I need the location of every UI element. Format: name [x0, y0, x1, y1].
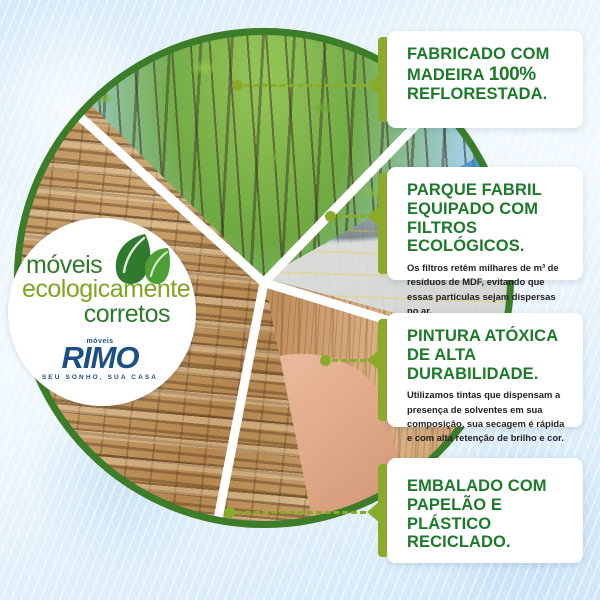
- connector-dashed-line-1: [244, 84, 366, 87]
- rimo-logo: móveis RIMO SEU SONHO, SUA CASA: [41, 338, 159, 381]
- fact-card-1[interactable]: FABRICADO COM MADEIRA 100% REFLORESTADA.: [387, 31, 583, 128]
- connector-dot-1: [232, 80, 243, 91]
- fact-card-4-heading: EMBALADO COM PAPELÃO E PLÁSTICO RECICLAD…: [407, 477, 567, 552]
- badge-line-3: corretos: [18, 302, 170, 327]
- fact-card-2[interactable]: PARQUE FABRIL EQUIPADO COM FILTROS ECOLÓ…: [387, 167, 583, 280]
- connector-2: [325, 209, 380, 223]
- fact-card-3[interactable]: PINTURA ATÓXICA DE ALTA DURABILIDADE. Ut…: [387, 313, 583, 427]
- fact-card-2-body: Os filtros retêm milhares de m³ de resíd…: [407, 261, 567, 318]
- fact-card-3-heading: PINTURA ATÓXICA DE ALTA DURABILIDADE.: [407, 327, 567, 383]
- two-leaves-icon: [104, 232, 170, 286]
- connector-1: [232, 78, 380, 92]
- fact-card-4[interactable]: EMBALADO COM PAPELÃO E PLÁSTICO RECICLAD…: [387, 458, 583, 563]
- card-accent-bar-4: [378, 464, 387, 557]
- card-accent-bar-1: [378, 37, 387, 122]
- highlight-100-percent: 100%: [489, 64, 536, 85]
- connector-dot-2: [325, 211, 336, 222]
- brand-badge-content: móveis ecologicamente corretos móveis RI…: [8, 218, 196, 406]
- connector-dashed-line-2: [337, 215, 366, 218]
- card-accent-bar-3: [378, 319, 387, 421]
- rimo-tagline: SEU SONHO, SUA CASA: [41, 374, 159, 381]
- brand-badge: móveis ecologicamente corretos móveis RI…: [8, 218, 196, 406]
- connector-dot-3: [320, 355, 331, 366]
- fact-card-1-heading: FABRICADO COM MADEIRA 100% REFLORESTADA.: [407, 45, 567, 104]
- connector-4: [224, 505, 380, 519]
- infographic-poster: móveis ecologicamente corretos móveis RI…: [0, 0, 600, 600]
- fact-card-2-heading: PARQUE FABRIL EQUIPADO COM FILTROS ECOLÓ…: [407, 181, 567, 256]
- connector-dashed-line-3: [332, 359, 366, 362]
- connector-dot-4: [224, 507, 235, 518]
- connector-dashed-line-4: [236, 511, 366, 514]
- fact-card-3-body: Utilizamos tintas que dispensam a presen…: [407, 388, 567, 445]
- card-accent-bar-2: [378, 173, 387, 274]
- rimo-wordmark: RIMO: [41, 345, 159, 372]
- connector-3: [320, 353, 380, 367]
